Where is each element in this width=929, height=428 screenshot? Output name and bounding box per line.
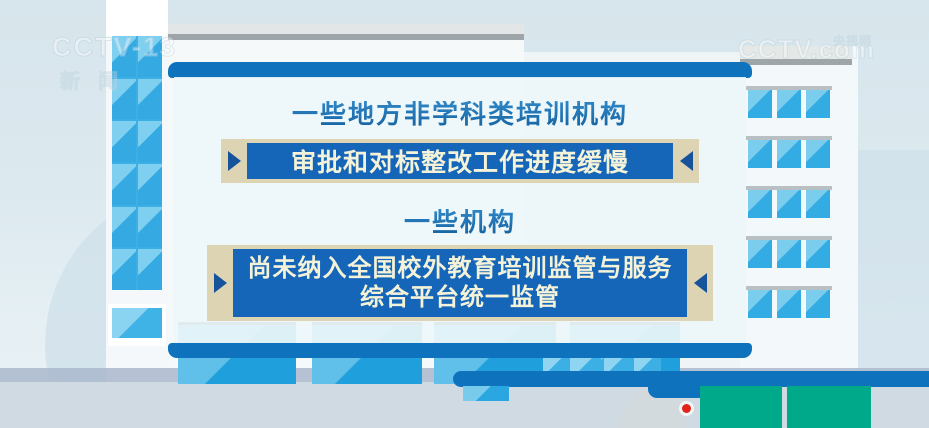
chevron-left-icon [687, 273, 713, 293]
glass-pane [138, 207, 162, 248]
glass-pane [112, 249, 136, 290]
glass-pane [112, 79, 136, 120]
glass-pane [138, 249, 162, 290]
teal-panel [787, 386, 871, 428]
window-row [748, 290, 830, 318]
window [806, 290, 830, 318]
chevron-right-icon [221, 151, 247, 171]
section-2-heading: 一些机构 [174, 209, 746, 238]
window [806, 90, 830, 118]
panel-body: 一些地方非学科类培训机构 审批和对标整改工作进度缓慢 一些机构 尚未纳入全国校外… [174, 77, 746, 344]
glass-pane [138, 164, 162, 205]
window [777, 290, 801, 318]
glass-pane [138, 36, 162, 77]
window-row [748, 240, 830, 268]
center-building-roofline [168, 34, 524, 40]
panel-bottom-bar [168, 343, 752, 358]
glass-pane [138, 79, 162, 120]
left-glass-tower [106, 0, 168, 386]
window-row [748, 90, 830, 118]
glass-pane [112, 36, 136, 77]
section-1-banner: 审批和对标整改工作进度缓慢 [221, 139, 699, 183]
window [806, 190, 830, 218]
window-row [748, 140, 830, 168]
chevron-right-icon [207, 273, 233, 293]
right-building-roof [740, 46, 852, 59]
info-panel: 一些地方非学科类培训机构 审批和对标整改工作进度缓慢 一些机构 尚未纳入全国校外… [160, 62, 760, 358]
red-marker-icon [679, 401, 694, 416]
glass-pane [112, 164, 136, 205]
glass-pane [112, 207, 136, 248]
window [777, 240, 801, 268]
section-2-banner-line-1: 尚未纳入全国校外教育培训监管与服务 [248, 254, 673, 283]
section-1-banner-text: 审批和对标整改工作进度缓慢 [247, 143, 673, 179]
window [806, 140, 830, 168]
chevron-left-icon [673, 151, 699, 171]
section-1-heading: 一些地方非学科类培训机构 [174, 101, 746, 130]
awning-glass-tab [463, 386, 509, 401]
panel-top-bar [168, 62, 752, 78]
glass-pane [138, 121, 162, 162]
window [777, 90, 801, 118]
red-dot [682, 404, 691, 413]
window [806, 240, 830, 268]
panel-content: 一些地方非学科类培训机构 审批和对标整改工作进度缓慢 一些机构 尚未纳入全国校外… [174, 77, 746, 344]
window [777, 190, 801, 218]
section-2-banner-text: 尚未纳入全国校外教育培训监管与服务 综合平台统一监管 [233, 249, 687, 317]
window-row [748, 190, 830, 218]
left-tower-cap [106, 0, 168, 36]
teal-panel [700, 386, 782, 428]
section-2-banner-line-2: 综合平台统一监管 [360, 283, 560, 312]
left-tower-lobby-glass [112, 308, 162, 338]
glass-pane [112, 121, 136, 162]
left-tower-glass-grid [112, 36, 162, 290]
window [777, 140, 801, 168]
section-2-banner: 尚未纳入全国校外教育培训监管与服务 综合平台统一监管 [207, 245, 713, 321]
